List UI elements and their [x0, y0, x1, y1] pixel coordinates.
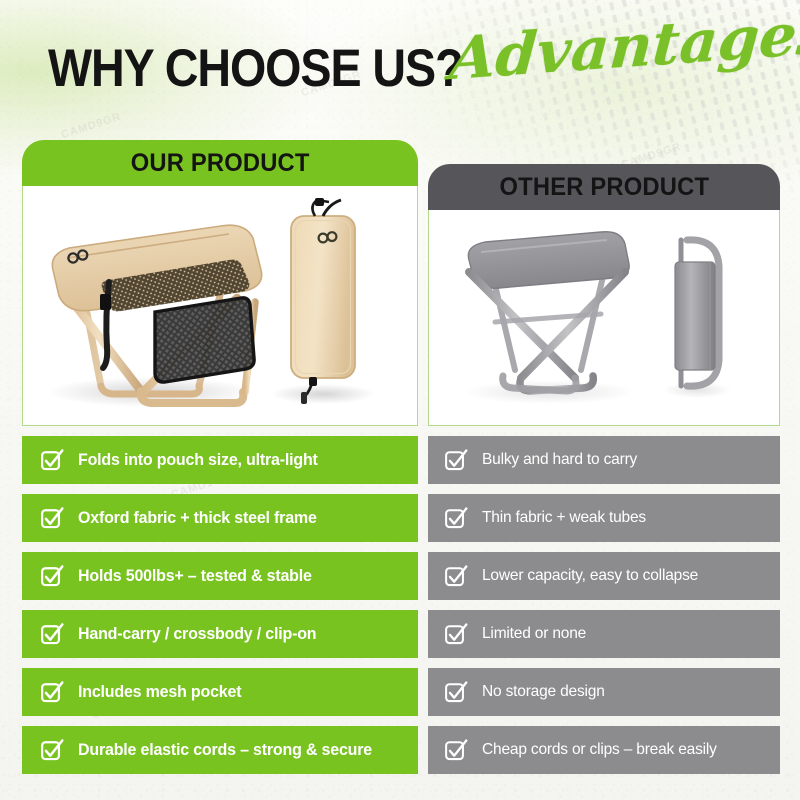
carry-pouch-graphic [291, 198, 355, 404]
feature-label: Hand-carry / crossbody / clip-on [78, 625, 316, 643]
feature-row: Includes mesh pocket [22, 668, 418, 716]
checkbox-checked-icon [444, 506, 469, 531]
our-product-photo [23, 186, 417, 426]
checkbox-checked-icon [40, 506, 65, 531]
checkbox-checked-icon [444, 564, 469, 589]
feature-label: Cheap cords or clips – break easily [482, 741, 717, 759]
our-product-image-panel [22, 186, 418, 426]
comparison-infographic: CAMD9GR CAMD9GR CAMD9GR CAMD9GR CAMD9GR … [0, 0, 800, 800]
checkbox-checked-icon [444, 738, 469, 763]
feature-label: Durable elastic cords – strong & secure [78, 741, 372, 759]
feature-label: No storage design [482, 683, 605, 701]
checkbox-checked-icon [444, 680, 469, 705]
other-product-banner-label: OTHER PRODUCT [499, 173, 709, 202]
feature-label: Bulky and hard to carry [482, 451, 637, 469]
other-product-banner: OTHER PRODUCT [428, 164, 780, 210]
checkbox-checked-icon [40, 738, 65, 763]
feature-row: Oxford fabric + thick steel frame [22, 494, 418, 542]
feature-row: Cheap cords or clips – break easily [428, 726, 780, 774]
feature-row: Lower capacity, easy to collapse [428, 552, 780, 600]
our-product-banner: OUR PRODUCT [22, 140, 418, 186]
feature-row: Limited or none [428, 610, 780, 658]
checkbox-checked-icon [444, 622, 469, 647]
our-product-column: OUR PRODUCT [22, 140, 418, 784]
other-product-feature-list: Bulky and hard to carry Thin fabric + we… [428, 436, 780, 774]
feature-row: Thin fabric + weak tubes [428, 494, 780, 542]
our-product-feature-list: Folds into pouch size, ultra-light Oxfor… [22, 436, 418, 774]
feature-label: Limited or none [482, 625, 586, 643]
other-product-photo [429, 210, 779, 426]
our-product-banner-label: OUR PRODUCT [131, 149, 310, 178]
feature-label: Holds 500lbs+ – tested & stable [78, 567, 312, 585]
feature-label: Thin fabric + weak tubes [482, 509, 646, 527]
comparison-columns: OUR PRODUCT [0, 140, 800, 800]
other-product-image-panel [428, 210, 780, 426]
checkbox-checked-icon [40, 622, 65, 647]
other-product-column: OTHER PRODUCT [428, 140, 780, 784]
feature-label: Includes mesh pocket [78, 683, 241, 701]
folded-stool-graphic [675, 240, 719, 386]
checkbox-checked-icon [40, 564, 65, 589]
feature-row: Durable elastic cords – strong & secure [22, 726, 418, 774]
feature-row: Holds 500lbs+ – tested & stable [22, 552, 418, 600]
feature-row: Folds into pouch size, ultra-light [22, 436, 418, 484]
feature-label: Folds into pouch size, ultra-light [78, 451, 318, 469]
feature-label: Oxford fabric + thick steel frame [78, 509, 317, 527]
header: WHY CHOOSE US? Advantages [0, 28, 800, 108]
checkbox-checked-icon [444, 448, 469, 473]
feature-row: Bulky and hard to carry [428, 436, 780, 484]
feature-label: Lower capacity, easy to collapse [482, 567, 698, 585]
checkbox-checked-icon [40, 448, 65, 473]
feature-row: Hand-carry / crossbody / clip-on [22, 610, 418, 658]
checkbox-checked-icon [40, 680, 65, 705]
feature-row: No storage design [428, 668, 780, 716]
page-title: WHY CHOOSE US? [48, 42, 463, 95]
